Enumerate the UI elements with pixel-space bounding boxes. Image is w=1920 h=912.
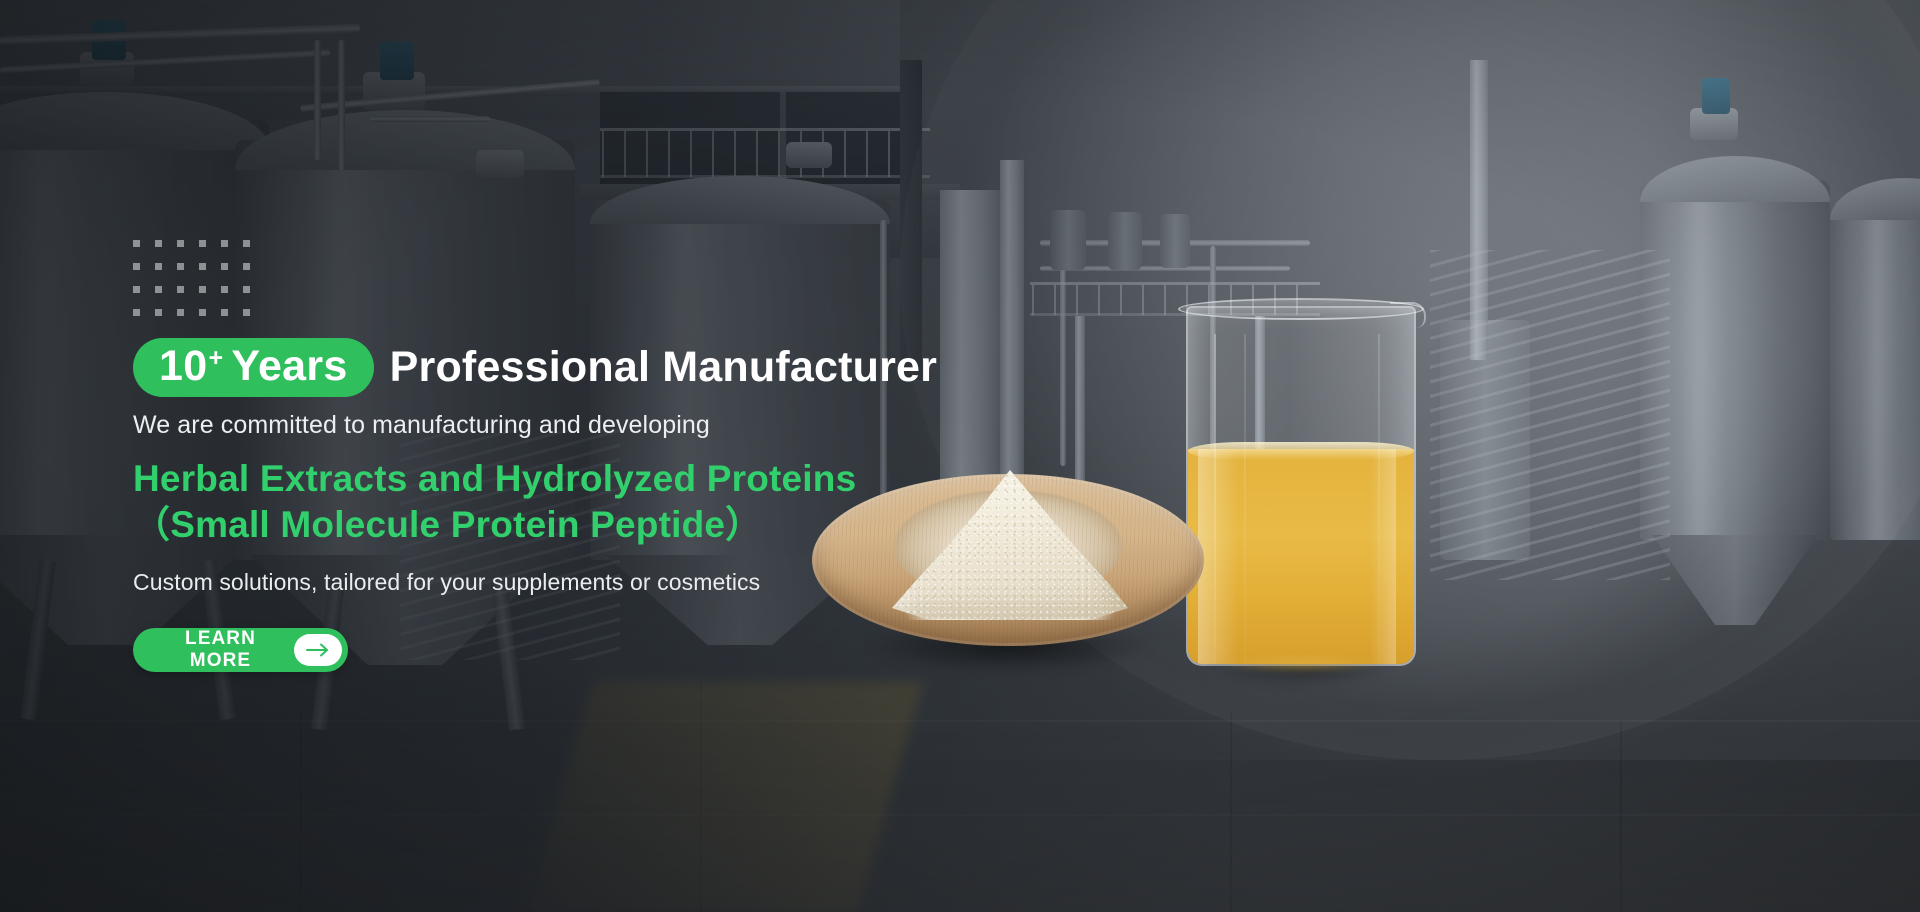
- years-badge-superscript: +: [208, 344, 223, 372]
- glass-beaker-image: [1178, 288, 1424, 670]
- green-headline-line-2: （Small Molecule Protein Peptide）: [133, 502, 1033, 547]
- dot-grid-icon: [133, 240, 1033, 316]
- years-badge: 10+Years: [133, 338, 374, 397]
- years-badge-number: 10: [159, 342, 207, 390]
- learn-more-button[interactable]: LEARN MORE: [133, 628, 348, 672]
- headline-text: Professional Manufacturer: [390, 343, 937, 392]
- hero-green-headline: Herbal Extracts and Hydrolyzed Proteins …: [133, 456, 1033, 546]
- hero-subline: We are committed to manufacturing and de…: [133, 411, 1033, 440]
- years-badge-unit: Years: [231, 342, 347, 390]
- hero-content: 10+Years Professional Manufacturer We ar…: [133, 0, 1033, 912]
- hero-tagline: Custom solutions, tailored for your supp…: [133, 569, 1033, 596]
- green-headline-line-1: Herbal Extracts and Hydrolyzed Proteins: [133, 456, 1033, 501]
- arrow-right-icon: [294, 634, 342, 666]
- learn-more-label: LEARN MORE: [161, 628, 280, 672]
- hero-headline: 10+Years Professional Manufacturer: [133, 338, 1033, 397]
- hero-banner: 10+Years Professional Manufacturer We ar…: [0, 0, 1920, 912]
